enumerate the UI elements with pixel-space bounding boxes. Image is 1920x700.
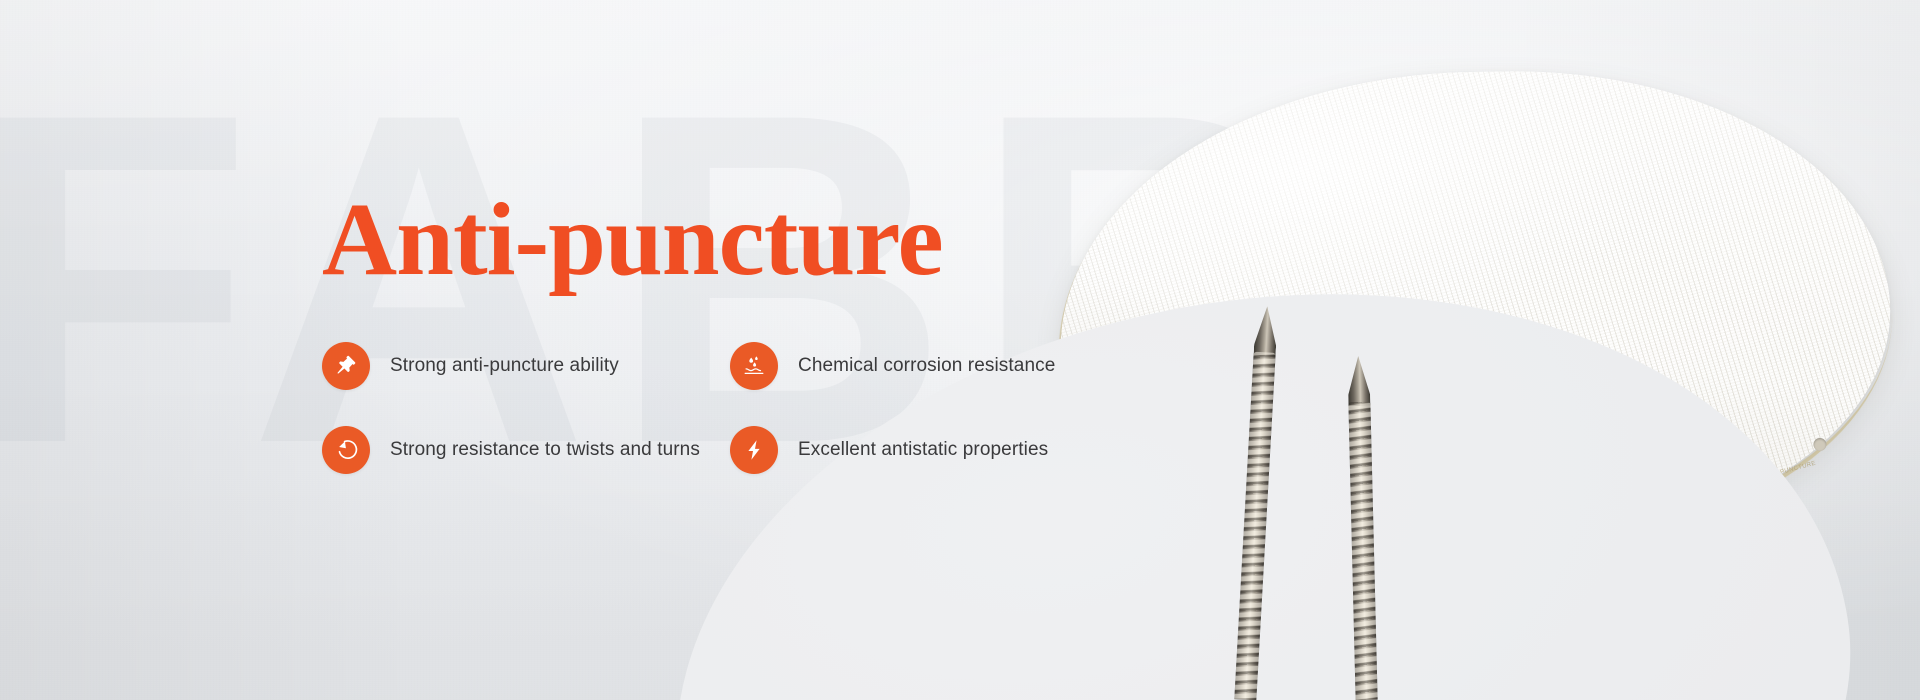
sole-body: ANTI PUNCTURE (1056, 65, 1894, 549)
rotate-twist-icon (322, 426, 370, 474)
woven-sole-graphic: ANTI PUNCTURE (1000, 0, 1920, 700)
nail-threads-right (1348, 402, 1377, 700)
page-title: Anti-puncture (322, 186, 1082, 294)
sole-weave-ribs (1056, 65, 1894, 549)
nail-shadow-right (1330, 480, 1400, 700)
lightning-bolt-icon (730, 426, 778, 474)
sole-highlight-shading (1056, 65, 1894, 549)
nail-threads-left (1234, 352, 1275, 700)
feature-item-antistatic[interactable]: Excellent antistatic properties (730, 426, 1082, 474)
sole-weave-cross (1056, 65, 1894, 549)
feature-item-anti-puncture[interactable]: Strong anti-puncture ability (322, 342, 730, 390)
water-drop-surface-icon (730, 342, 778, 390)
anti-puncture-hero-banner: FABRIC ANTI PUNCTURE (0, 0, 1920, 700)
nail-tip-right (1347, 356, 1370, 407)
nail-shadow-left (1220, 480, 1290, 700)
product-photo: ANTI PUNCTURE (1000, 0, 1920, 700)
sole-bound-edge (1054, 67, 1896, 555)
feature-list: Strong anti-puncture ability Chemical co… (322, 342, 1082, 474)
nail-tip-left (1254, 306, 1279, 357)
feature-label: Chemical corrosion resistance (798, 355, 1055, 377)
feature-label: Excellent antistatic properties (798, 439, 1048, 461)
banner-content: Anti-puncture Strong anti-puncture abili… (322, 186, 1082, 474)
sole-stamp-text: ANTI PUNCTURE (1759, 459, 1821, 483)
feature-item-twist-resistance[interactable]: Strong resistance to twists and turns (322, 426, 730, 474)
threaded-nail-right (1348, 402, 1377, 700)
sole-punch-hole (1813, 438, 1826, 451)
feature-item-chemical-resistance[interactable]: Chemical corrosion resistance (730, 342, 1082, 390)
feature-label: Strong anti-puncture ability (390, 355, 619, 377)
threaded-nail-left (1234, 352, 1275, 700)
feature-label: Strong resistance to twists and turns (390, 439, 700, 461)
pushpin-icon (322, 342, 370, 390)
